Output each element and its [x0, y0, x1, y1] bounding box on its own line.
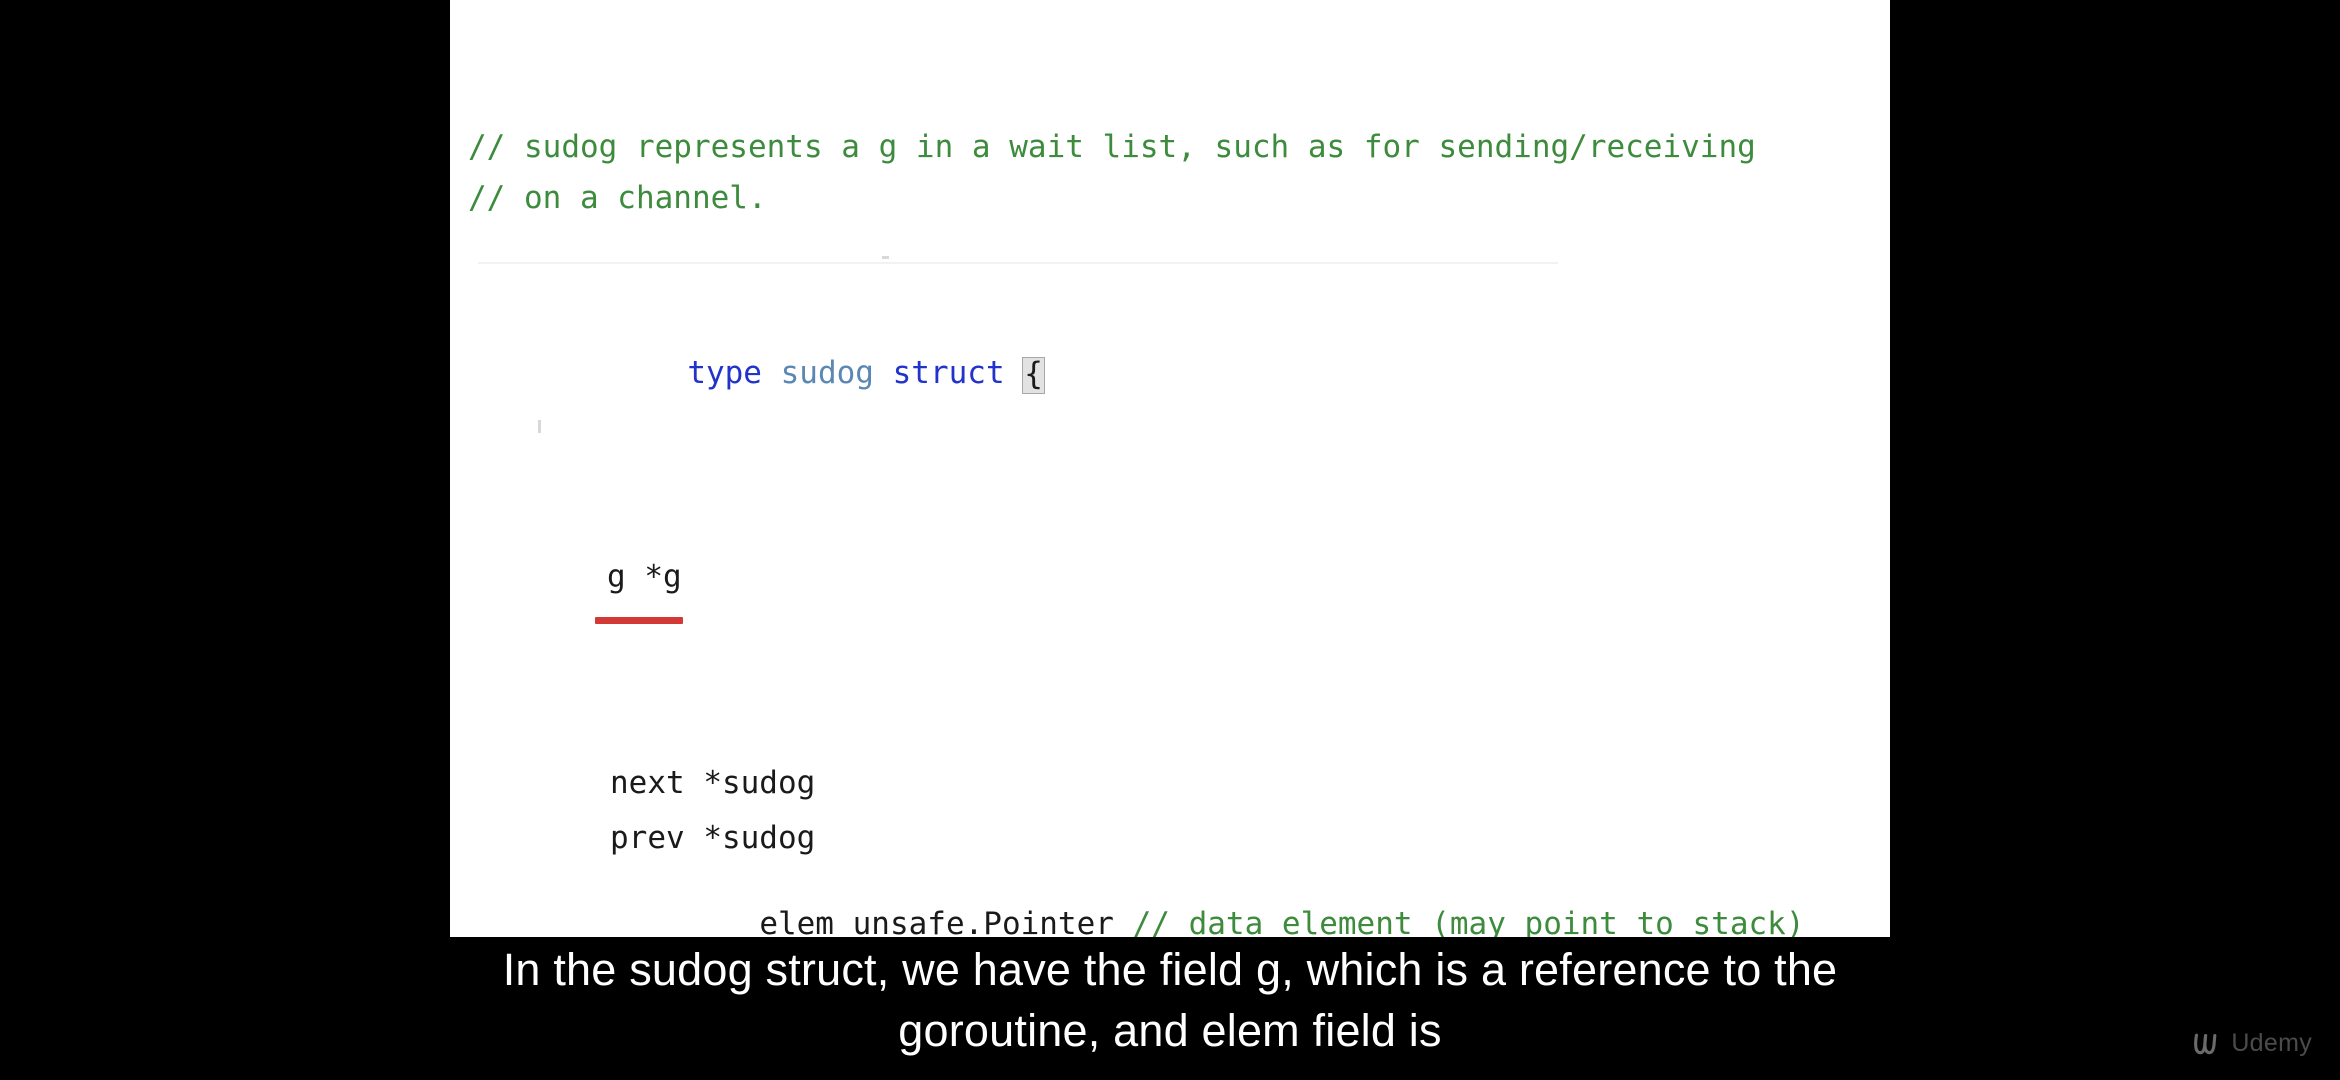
code-line-comment-1: // sudog represents a g in a wait list, …	[468, 132, 1756, 163]
video-player[interactable]: // sudog represents a g in a wait list, …	[0, 0, 2340, 1080]
space-2	[874, 355, 893, 391]
caption-line-1-text: In the sudog struct, we have the field g…	[497, 939, 1844, 1001]
field-elem-comment: // data element (may point to stack)	[1133, 906, 1805, 937]
code-line-field-prev: prev *sudog	[610, 823, 815, 854]
keyword-struct: struct	[893, 355, 1005, 391]
code-block: // sudog represents a g in a wait list, …	[450, 0, 1890, 937]
space-1	[762, 355, 781, 391]
faint-rule-artifact	[478, 262, 1558, 264]
caption-line-1: In the sudog struct, we have the field g…	[0, 939, 2340, 1001]
udemy-watermark-label: Udemy	[2231, 1029, 2312, 1058]
open-brace-match-highlight: {	[1022, 357, 1045, 394]
keyword-type: type	[687, 355, 762, 391]
code-line-field-next: next *sudog	[610, 768, 815, 799]
code-line-comment-2: // on a channel.	[468, 183, 767, 214]
space-3	[1005, 355, 1024, 391]
udemy-watermark: Udemy	[2192, 1029, 2312, 1058]
code-line-field-g: g *g	[607, 562, 682, 593]
code-line-field-elem: elem unsafe.Pointer // data element (may…	[610, 878, 1804, 937]
code-line-type-declaration: type sudog struct {	[538, 325, 1044, 424]
field-elem-code: elem unsafe.Pointer	[759, 906, 1132, 937]
faint-tick-artifact	[882, 256, 889, 259]
subtitle-caption-block: In the sudog struct, we have the field g…	[0, 939, 2340, 1062]
caption-line-2-text: goroutine, and elem field is	[892, 1000, 1447, 1062]
type-name-sudog: sudog	[781, 355, 874, 391]
udemy-u-icon	[2192, 1031, 2222, 1057]
caption-line-2: goroutine, and elem field is	[0, 1000, 2340, 1062]
slide-code-panel: // sudog represents a g in a wait list, …	[450, 0, 1890, 937]
field-g-red-underline	[595, 617, 683, 624]
